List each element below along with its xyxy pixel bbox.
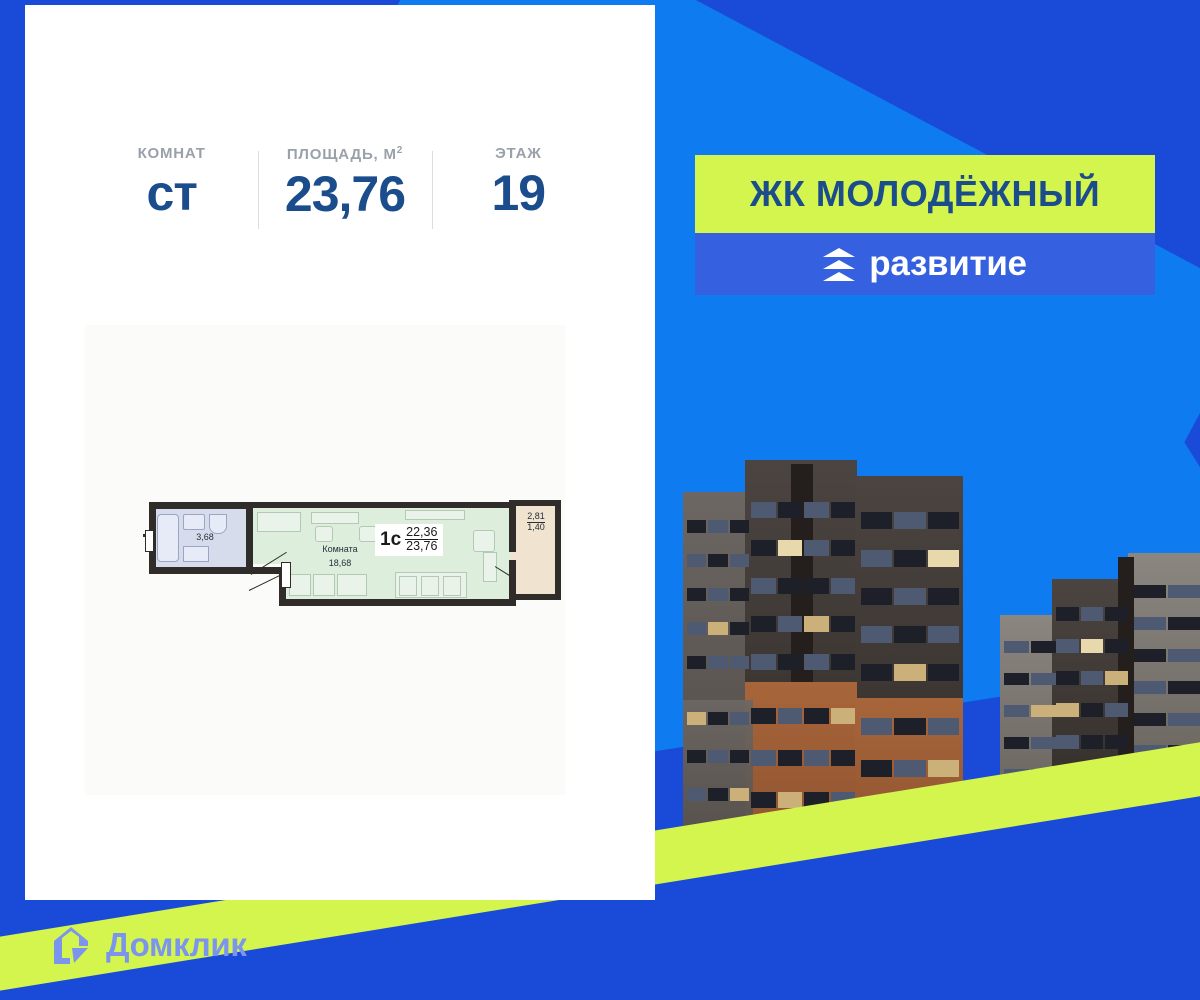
stat-rooms-value: ст [85,168,258,218]
complex-name-label: ЖК МОЛОДЁЖНЫЙ [750,173,1100,215]
stat-area-value: 23,76 [258,169,431,219]
domclick-brand-label: Домклик [106,926,247,964]
entry-door [281,562,291,588]
wardrobe-furniture [257,512,301,532]
balcony-area-fraction: 2,81 1,40 [519,512,553,533]
sofa-cushion-2 [421,576,439,596]
room-name-label: Комната [295,544,385,554]
developer-label: развитие [869,244,1026,284]
stove-furniture [289,574,311,596]
armchair-furniture [473,530,495,552]
stat-floor: ЭТАЖ 19 [432,145,605,218]
stat-rooms: КОМНАТ ст [85,145,258,218]
stat-floor-label: ЭТАЖ [432,145,605,162]
floorplan-card: КОМНАТ ст ПЛОЩАДЬ, М2 23,76 ЭТАЖ 19 [25,5,655,900]
sofa-cushion-1 [399,576,417,596]
counter-kitchen-furniture [337,574,367,596]
domclick-house-icon [48,922,94,968]
wall-bathroom-right [246,502,253,574]
floor-plan-drawing: 3,68 Комната 18,68 2,81 1,40 1с 22,36 23… [143,500,568,615]
listing-card-stage: ЖК МОЛОДЁЖНЫЙ развитие КОМНАТ ст ПЛОЩАДЬ… [0,0,1200,1000]
bathtub-fixture [157,514,179,562]
stat-area-label: ПЛОЩАДЬ, М2 [258,145,431,163]
shelf-furniture [405,510,465,520]
wall-balcony-top [509,500,561,506]
promo-badges: ЖК МОЛОДЁЖНЫЙ развитие [695,155,1155,295]
stat-rooms-label: КОМНАТ [85,145,258,162]
apartment-area-total: 23,76 [405,540,438,553]
sink-kitchen-furniture [313,574,335,596]
sink-fixture [183,514,205,530]
chevron-up-stack-icon [823,248,855,281]
balcony-area-counted: 1,40 [527,523,545,533]
chair-furniture-1 [315,526,333,542]
wall-balcony-left-upper [509,502,516,552]
stat-area: ПЛОЩАДЬ, М2 23,76 [258,145,431,219]
sofa-cushion-3 [443,576,461,596]
stat-floor-value: 19 [432,168,605,218]
domclick-logo: Домклик [48,922,247,968]
wall-bottom-left [149,567,253,574]
apartment-type-badge: 1с 22,36 23,76 [375,524,443,556]
wall-top-left [149,502,253,509]
square-meter-superscript: 2 [397,145,403,156]
apartment-area-fraction: 22,36 23,76 [405,526,438,553]
leader-line-entry [249,574,282,591]
room-area-label: 18,68 [295,558,385,568]
wall-top [253,502,515,508]
developer-badge: развитие [695,233,1155,295]
toilet-fixture [209,514,227,534]
footer-bar: Домклик [0,900,1200,1000]
complex-name-badge: ЖК МОЛОДЁЖНЫЙ [695,155,1155,233]
apartment-code: 1с [380,530,401,549]
bathroom-area-label: 3,68 [181,532,229,542]
window-opening-left [145,530,154,552]
wall-balcony-bottom [509,594,561,600]
wall-balcony-right [555,500,561,600]
counter-furniture [311,512,359,524]
apartment-area-living: 22,36 [405,526,438,540]
wall-bottom [279,599,515,606]
bathroom-door-swing [183,546,209,562]
stats-row: КОМНАТ ст ПЛОЩАДЬ, М2 23,76 ЭТАЖ 19 [85,145,605,255]
